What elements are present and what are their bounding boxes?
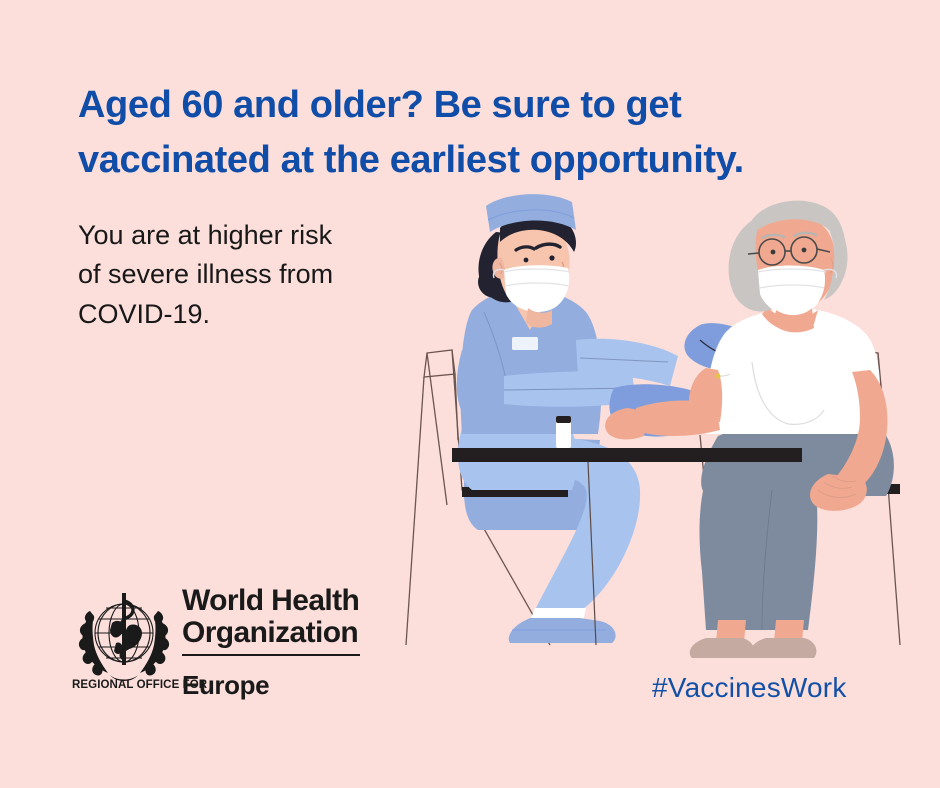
vial-cap <box>556 416 571 423</box>
injection-site <box>716 374 721 379</box>
who-wordmark-line1: World Health <box>182 585 362 617</box>
regional-office-region: Europe <box>182 670 269 701</box>
nurse-badge <box>512 337 538 350</box>
patient-shoe-right <box>750 638 817 658</box>
who-wordmark-line2: Organization <box>182 617 362 649</box>
who-wordmark: World Health Organization <box>182 585 362 656</box>
who-logo-divider <box>182 654 360 656</box>
poster-canvas: Aged 60 and older? Be sure to get vaccin… <box>0 0 940 788</box>
table-top <box>452 448 802 462</box>
who-logo: World Health Organization REGIONAL OFFIC… <box>72 583 362 701</box>
patient-shoe-left <box>690 638 755 658</box>
body-text: You are at higher risk of severe illness… <box>78 216 408 334</box>
headline-text: Aged 60 and older? Be sure to get vaccin… <box>78 78 868 189</box>
patient-head <box>729 201 848 333</box>
hashtag-vaccines-work: #VaccinesWork <box>652 672 847 704</box>
who-regional-office: REGIONAL OFFICE FOR Europe <box>72 670 362 700</box>
illustration-vaccination-scene <box>400 190 940 660</box>
patient-figure <box>605 201 900 658</box>
patient-trousers-front <box>712 486 818 630</box>
vaccine-vial <box>556 416 571 448</box>
